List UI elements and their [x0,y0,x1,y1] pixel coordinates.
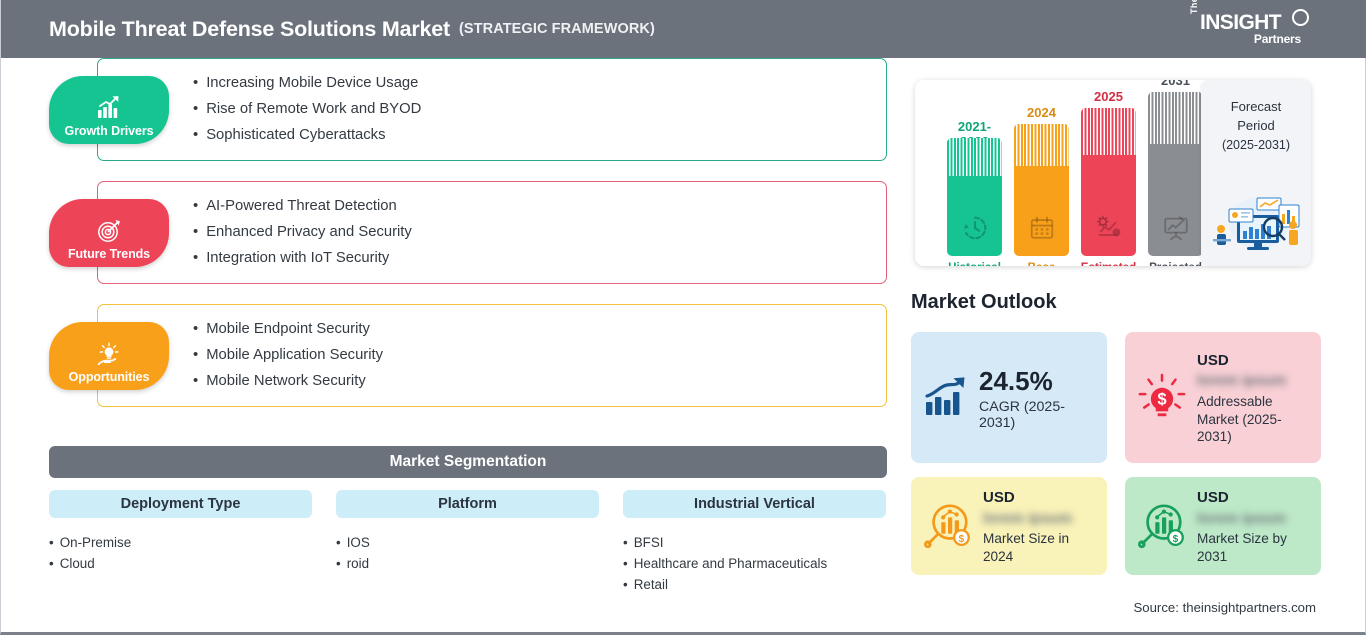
clock-history-icon [961,214,989,247]
outlook-card-body: USDlorem ipsumAddressable Market (2025-2… [1197,353,1309,447]
svg-text:$: $ [1157,391,1166,409]
pillar-bullet-list: AI-Powered Threat DetectionEnhanced Priv… [193,181,412,284]
card-caption: Addressable Market (2025-2031) [1197,393,1309,447]
segmentation-column: Deployment TypeOn-PremiseCloud [49,490,312,596]
timeline-column-2025: 2025 EstimatedYear [1081,108,1136,256]
forecast-line2: Period [1201,117,1311,136]
gear-chart-icon [1095,214,1123,247]
analytics-illustration-icon [1207,189,1305,256]
segmentation-column: PlatformIOSroid [336,490,599,596]
timeline-bar [1081,108,1136,256]
redacted-market-value: lorem ipsum [983,511,1095,528]
list-item: Enhanced Privacy and Security [193,224,412,241]
infographic-page: Mobile Threat Defense Solutions Market (… [0,0,1366,635]
page-title: Mobile Threat Defense Solutions Market [49,17,450,42]
timeline-year-label: 2031 [1148,80,1203,88]
list-item: IOS [336,532,599,553]
pillars-section: Growth DriversIncreasing Mobile Device U… [1,58,901,427]
market-outlook-title: Market Outlook [911,291,1057,314]
timeline-panel: 2021-2023 HistoricalYears2024 BaseYear20… [915,80,1311,266]
list-item: Rise of Remote Work and BYOD [193,101,421,118]
timeline-bar-stripes [947,138,1002,176]
badge-opportunities[interactable]: Opportunities [49,322,169,390]
segmentation-pill[interactable]: Platform [336,490,599,518]
redacted-market-value: lorem ipsum [1197,373,1309,390]
pillar-row-growth-drivers: Growth DriversIncreasing Mobile Device U… [1,58,901,161]
badge-label: Future Trends [68,248,150,261]
badge-future-trends[interactable]: Future Trends [49,199,169,267]
cagr-caption: CAGR (2025-2031) [979,399,1095,431]
bar-chart-arrow-up-icon [923,374,969,425]
badge-label: Opportunities [69,371,150,384]
svg-text:$: $ [959,533,965,544]
timeline-column-2024: 2024 BaseYear [1014,124,1069,256]
timeline-bar [1148,92,1203,256]
lightbulb-dollar-icon: $ [1137,372,1187,427]
timeline-bar-stripes [1014,124,1069,166]
outlook-card-body: USDlorem ipsumMarket Size in 2024 [983,490,1095,566]
page-subtitle: (STRATEGIC FRAMEWORK) [459,21,655,37]
timeline-caption-line1: Estimated [1075,261,1142,266]
forecast-years: (2025-2031) [1201,136,1311,154]
timeline-caption: BaseYear [1008,261,1075,266]
timeline-caption: EstimatedYear [1075,261,1142,266]
outlook-card-row: 24.5%CAGR (2025-2031) $USDlorem ipsumAdd… [911,332,1321,463]
timeline-year-label: 2024 [1014,105,1069,120]
redacted-market-value: lorem ipsum [1197,511,1309,528]
segmentation-header: Market Segmentation [49,446,887,478]
presentation-chart-icon [1162,214,1190,247]
list-item: Retail [623,574,886,595]
outlook-card[interactable]: $USDlorem ipsumMarket Size in 2024 [911,477,1107,575]
timeline-caption: ProjectedYear [1142,261,1209,266]
timeline-caption-line1: Base [1008,261,1075,266]
outlook-card-body: 24.5%CAGR (2025-2031) [979,368,1095,431]
segmentation-pill[interactable]: Industrial Vertical [623,490,886,518]
logo-partners-text: Partners [1254,32,1301,46]
timeline-bar-stripes [1148,92,1203,144]
list-item: On-Premise [49,532,312,553]
segmentation-column: Industrial VerticalBFSIHealthcare and Ph… [623,490,886,596]
logo-the-text: The [1189,0,1199,14]
outlook-card[interactable]: 24.5%CAGR (2025-2031) [911,332,1107,463]
list-item: BFSI [623,532,886,553]
list-item: Healthcare and Pharmaceuticals [623,553,886,574]
source-text: Source: theinsightpartners.com [1133,600,1316,615]
svg-text:$: $ [1173,533,1179,544]
page-header: Mobile Threat Defense Solutions Market (… [1,0,1366,58]
card-caption: Market Size by 2031 [1197,530,1309,566]
outlook-cards: 24.5%CAGR (2025-2031) $USDlorem ipsumAdd… [911,332,1321,589]
timeline-caption: HistoricalYears [941,261,1008,266]
magnifier-chart-dollar-icon: $ [923,501,973,556]
list-item: Mobile Application Security [193,347,383,364]
timeline-caption-line1: Historical [941,261,1008,266]
forecast-line1: Forecast [1201,98,1311,117]
list-item: Sophisticated Cyberattacks [193,127,421,144]
timeline-caption-line1: Projected [1142,261,1209,266]
currency-label: USD [1197,490,1309,507]
list-item: roid [336,553,599,574]
segmentation-columns: Deployment TypeOn-PremiseCloudPlatformIO… [49,490,887,596]
timeline-bar-stripes [1081,108,1136,155]
insight-partners-logo: The INSIGHT Partners [1189,10,1309,50]
forecast-period-panel: Forecast Period (2025-2031) [1201,80,1311,266]
timeline-bar [1014,124,1069,256]
outlook-card[interactable]: $USDlorem ipsumAddressable Market (2025-… [1125,332,1321,463]
badge-growth-drivers[interactable]: Growth Drivers [49,76,169,144]
magnifier-chart-dollar-icon: $ [1137,501,1187,556]
pillar-bullet-list: Mobile Endpoint SecurityMobile Applicati… [193,304,383,407]
list-item: Increasing Mobile Device Usage [193,75,421,92]
currency-label: USD [1197,353,1309,370]
timeline-column-2021-2023: 2021-2023 HistoricalYears [947,138,1002,256]
timeline-bars: 2021-2023 HistoricalYears2024 BaseYear20… [929,80,1171,266]
pillar-row-future-trends: Future TrendsAI-Powered Threat Detection… [1,181,901,284]
list-item: Integration with IoT Security [193,250,412,267]
currency-label: USD [983,490,1095,507]
list-item: Mobile Endpoint Security [193,321,383,338]
lightbulb-hand-icon [96,341,122,367]
logo-circle-icon [1292,9,1309,26]
bar-chart-growth-icon [96,95,122,121]
cagr-value: 24.5% [979,368,1095,395]
target-dart-icon [96,218,122,244]
outlook-card[interactable]: $USDlorem ipsumMarket Size by 2031 [1125,477,1321,575]
list-item: AI-Powered Threat Detection [193,198,412,215]
timeline-year-label: 2025 [1081,89,1136,104]
timeline-bar [947,138,1002,256]
outlook-card-body: USDlorem ipsumMarket Size by 2031 [1197,490,1309,566]
card-caption: Market Size in 2024 [983,530,1095,566]
pillar-bullet-list: Increasing Mobile Device UsageRise of Re… [193,58,421,161]
list-item: Cloud [49,553,312,574]
outlook-card-row: $USDlorem ipsumMarket Size in 2024 $USDl… [911,477,1321,575]
calendar-icon [1028,214,1056,247]
forecast-period-text: Forecast Period (2025-2031) [1201,98,1311,154]
pillar-row-opportunities: OpportunitiesMobile Endpoint SecurityMob… [1,304,901,407]
badge-label: Growth Drivers [65,125,154,138]
segmentation-pill[interactable]: Deployment Type [49,490,312,518]
list-item: Mobile Network Security [193,373,383,390]
timeline-column-2031: 2031 ProjectedYear [1148,92,1203,256]
